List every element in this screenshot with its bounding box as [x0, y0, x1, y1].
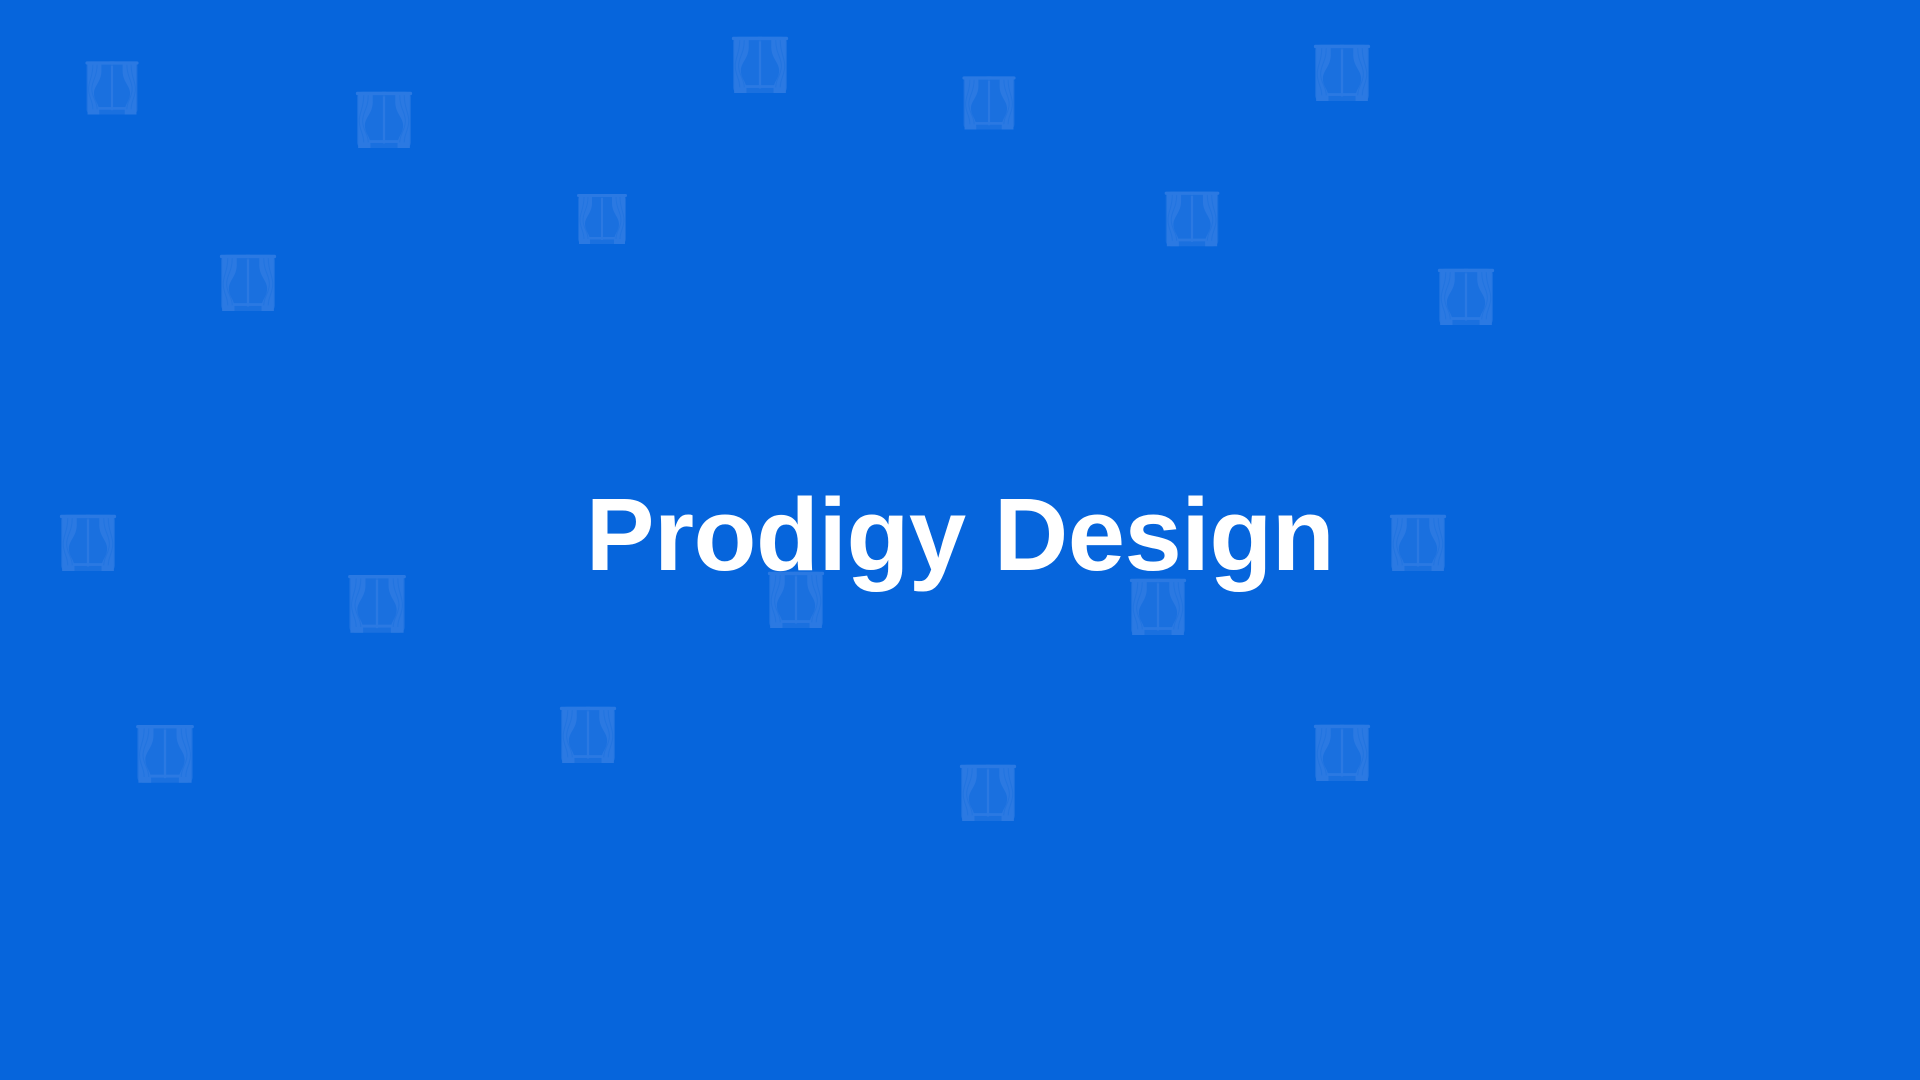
curtain-window-icon: [1306, 38, 1378, 110]
curtain-window-icon: [1306, 718, 1378, 790]
curtain-window-icon: [212, 248, 284, 320]
title-block: Prodigy Design: [0, 0, 1920, 1080]
curtain-window-icon: [340, 568, 414, 642]
page-title: Prodigy Design: [586, 483, 1334, 586]
curtain-window-icon: [78, 55, 146, 123]
curtain-window-icon: [1122, 572, 1194, 644]
curtain-window-icon: [128, 718, 202, 792]
curtain-window-icon: [952, 758, 1024, 830]
curtain-window-icon: [1157, 185, 1227, 255]
curtain-window-icon: [1430, 262, 1502, 334]
curtain-window-icon: [760, 565, 832, 637]
curtain-window-icon: [955, 70, 1023, 138]
curtain-window-icon: [52, 508, 124, 580]
slide-canvas: Prodigy Design: [0, 0, 1920, 1080]
curtain-window-icon: [570, 188, 634, 252]
curtain-window-icon: [552, 700, 624, 772]
curtain-window-icon: [724, 30, 796, 102]
curtain-window-icon: [1382, 508, 1454, 580]
background-pattern: [0, 0, 1920, 1080]
curtain-window-icon: [348, 85, 420, 157]
